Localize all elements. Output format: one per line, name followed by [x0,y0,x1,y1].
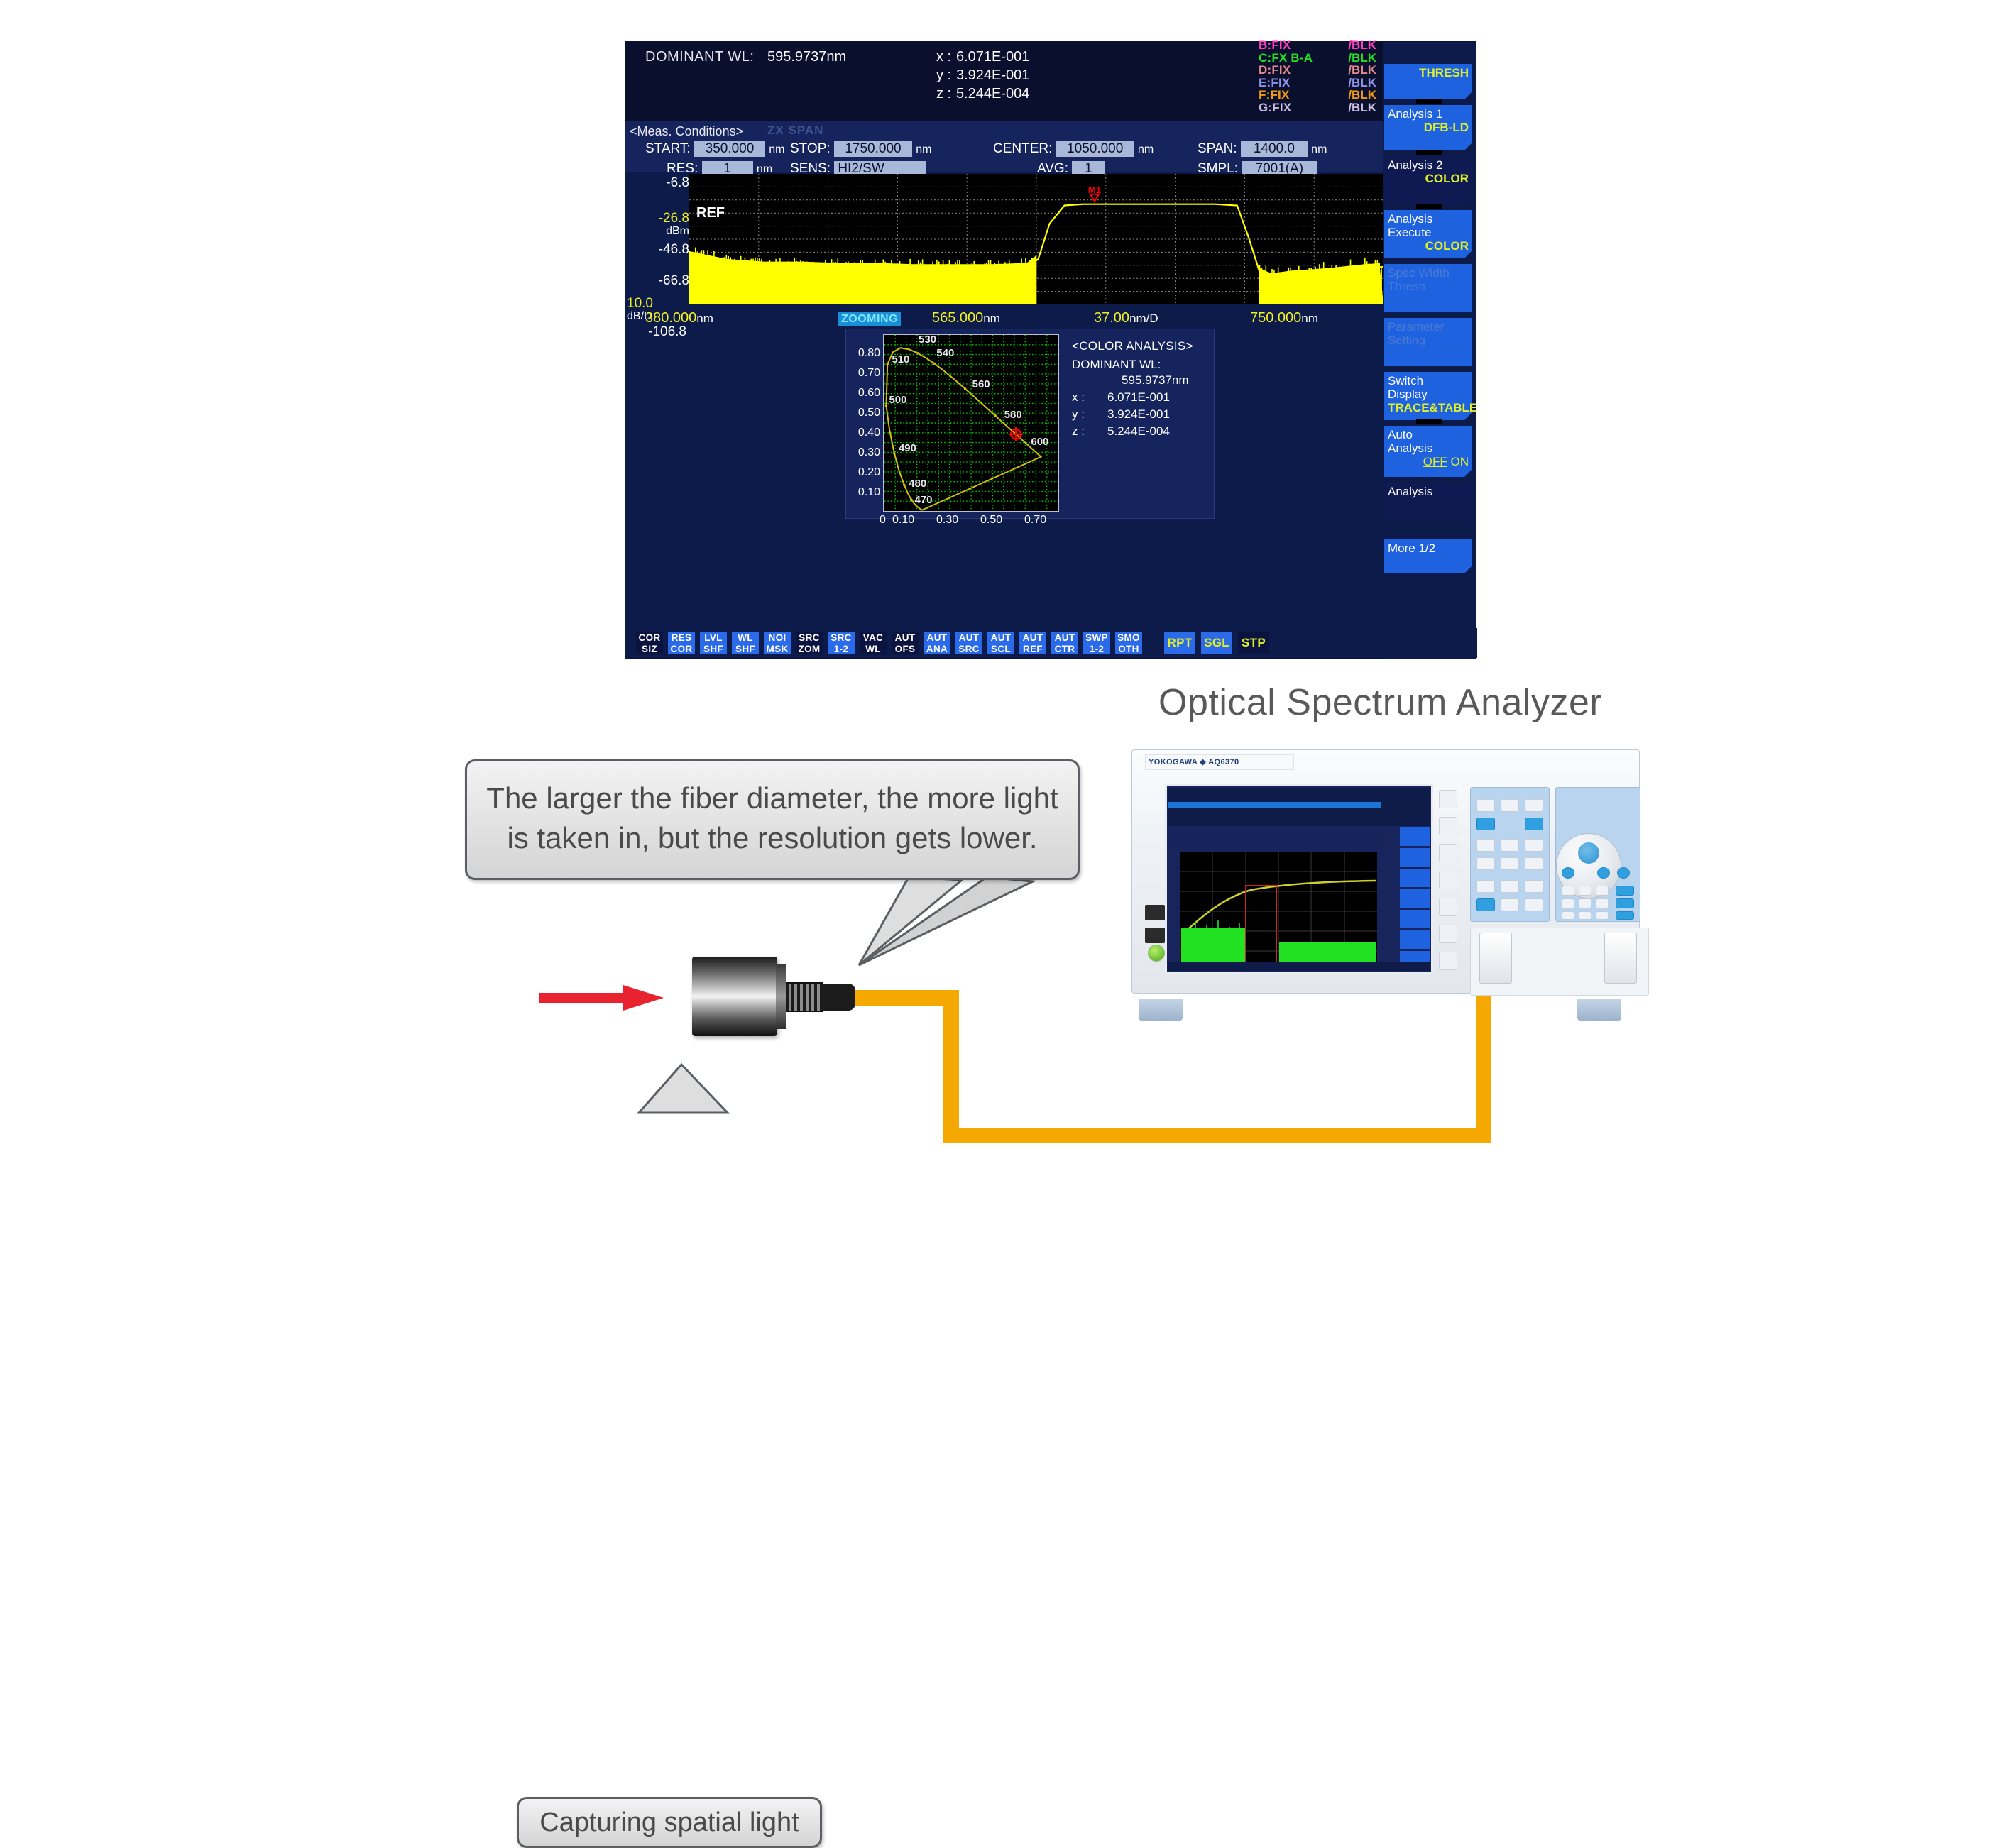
start-unit: nm [769,143,784,155]
softkey-label: Analysis 1 [1388,107,1469,121]
status-key-line1: AUT [991,632,1012,643]
cie-wavelength-label: 600 [1031,436,1048,448]
status-key-autofs[interactable]: AUTOFS [891,631,919,655]
trace-legend-mode: /BLK [1348,64,1376,77]
trace-legend-name: E:FIX [1259,77,1290,89]
brand-diamond-icon: ◆ [1200,758,1208,766]
mini-status-bar [1168,962,1430,971]
status-key-line1: COR [639,632,661,643]
y-tick-0: -6.8 [625,175,689,191]
osa-instrument-photo: YOKOGAWA ◆ AQ6370 [1123,739,1648,1021]
softkey-label: Analysis Execute [1388,212,1469,239]
instrument-chassis: YOKOGAWA ◆ AQ6370 [1131,749,1640,994]
cie-x-key: x : [1072,390,1090,405]
fiber-collimator-body [692,957,777,1036]
status-key-line2: CTR [1051,644,1078,655]
cie-y-tick: 0.40 [846,427,880,439]
cie-wavelength-label: 480 [909,478,926,490]
softkey-parameter-setting[interactable]: Parameter Setting [1383,317,1473,367]
cie-y-tick: 0.50 [846,407,880,419]
bezel-key-7[interactable] [1439,952,1457,970]
status-key-autsrc[interactable]: AUTSRC [955,631,983,655]
status-key-line1: SMO [1117,632,1140,643]
x-stop-value: 750.000 [1250,310,1301,326]
mini-softkeys [1400,827,1430,967]
key-peak-search[interactable] [1501,857,1519,870]
status-key-line2: ANA [924,644,950,655]
status-key-autctr[interactable]: AUTCTR [1051,631,1079,655]
softkey-value: DFB-LD [1388,121,1469,134]
fiber-connector-boot [821,984,855,1011]
dominant-wl-label: DOMINANT WL: [645,49,754,65]
cie-y-tick: 0.10 [846,486,880,499]
instrument-foot-right [1577,999,1621,1021]
scale-per-div-value: 10.0 [627,296,691,312]
numpad-unit-db[interactable] [1616,911,1634,920]
model-name: AQ6370 [1208,758,1239,766]
bezel-key-1[interactable] [1439,790,1457,808]
key-file[interactable] [1501,898,1519,911]
status-key-line1: AUT [959,632,980,643]
cie-y-key: y : [1072,407,1090,422]
status-key-autref[interactable]: AUTREF [1019,631,1047,655]
softkey-notch [1464,412,1472,420]
softkey-notch [1464,469,1472,477]
status-key-line2: SIZ [636,644,663,655]
cie-y-tick: 0.70 [846,367,880,380]
collimator-flange [776,964,786,1029]
instrument-brand-plate: YOKOGAWA ◆ AQ6370 [1145,754,1294,770]
status-key-line1: RES [672,632,692,643]
trace-legend-name: F:FIX [1259,89,1290,101]
trace-legend-row: E:FIX/BLK [1256,77,1383,89]
x-start-label: 380.000nm [645,310,713,326]
key-calib[interactable] [1476,880,1495,893]
spectrum-plot: M1 [689,174,1383,304]
softkey-notch [1464,143,1472,150]
key-trace[interactable] [1525,839,1543,852]
mini-title-bar [1168,802,1381,808]
status-key-line1: AUT [1055,632,1075,643]
status-key-rescor[interactable]: RESCOR [667,631,696,655]
page-title: Optical Spectrum Analyzer [1158,681,1602,724]
status-key-line2: SHF [700,644,727,655]
cie-x-tick: 0.30 [936,514,958,527]
softkey-divider [1416,419,1442,424]
cie-z-value: 5.244E-004 [1107,424,1170,438]
softkey-label: Analysis 2 [1388,158,1469,172]
x-value: 6.071E-001 [956,48,1063,66]
cie-y-row: y :3.924E-001 [1072,407,1170,422]
status-key-sgl[interactable]: SGL [1200,631,1233,655]
softkey-analysis[interactable]: Analysis [1383,482,1473,522]
trace-legend-name: D:FIX [1259,64,1291,77]
status-key-noimsk[interactable]: NOIMSK [763,631,791,655]
knob-up-button[interactable] [1617,867,1630,879]
softkey-notch [1464,566,1472,573]
display-bezel-softkeys[interactable] [1439,790,1463,1003]
x-center-label: 565.000nm [932,310,1000,326]
cie-x-tick: 0.50 [980,514,1002,527]
usb-port-a-icon[interactable] [1145,905,1165,920]
softkey-divider [1416,150,1442,155]
cie-wavelength-label: 490 [899,442,916,454]
color-analysis-title: <COLOR ANALYSIS> [1072,339,1193,353]
status-key-lvlshf[interactable]: LVLSHF [699,631,728,655]
softkey-value: THRESH [1388,66,1469,79]
cie-x-tick: 0.70 [1024,514,1046,527]
span-unit: nm [1311,143,1327,155]
mini-meas-panel [1168,829,1381,847]
knob-down-button[interactable] [1597,867,1610,879]
status-key-line1: NOI [769,632,787,643]
key-setup[interactable] [1476,839,1495,852]
trace-legend-mode: /BLK [1348,89,1376,101]
center-unit: nm [1138,143,1154,155]
bezel-key-3[interactable] [1439,844,1457,862]
softkey-panel[interactable]: THRESHAnalysis 1DFB-LDAnalysis 2COLORAna… [1383,42,1476,659]
numpad-5[interactable] [1579,898,1591,908]
trace-legend-name: B:FIX [1259,39,1291,52]
key-peak[interactable] [1525,818,1543,830]
chromaticity-values: x :6.071E-001 y :3.924E-001 z :5.244E-00… [936,48,1063,103]
softkey-value: COLOR [1388,172,1469,185]
x-start-unit: nm [696,312,713,325]
softkey-label: Parameter Setting [1388,320,1469,347]
trace-legend-mode: /BLK [1348,101,1376,114]
center-value[interactable]: 1050.000 [1056,141,1134,157]
status-key-autana[interactable]: AUTANA [923,631,951,655]
optical-port-bay[interactable] [1470,928,1649,996]
trace-legend-name: C:FX B-A [1259,52,1313,65]
status-key-line1: AUT [927,632,948,643]
collimator-threaded-adapter [786,982,823,1012]
softkey-switch-display[interactable]: Switch DisplayTRACE&TABLE [1383,371,1473,421]
input-light-arrow-icon [539,985,664,1011]
callout-bubble-fiber-diameter: The larger the fiber diameter, the more … [465,759,1080,880]
numpad-enter[interactable] [1616,886,1634,896]
calibration-output-port[interactable] [1604,933,1637,984]
cie-wavelength-label: 540 [936,347,954,359]
bezel-key-5[interactable] [1439,898,1457,916]
cie-x-tick: 0 [880,514,886,527]
svg-text:M1: M1 [1088,185,1101,195]
status-key-line1: RPT [1168,636,1193,649]
x-perdiv-value: 37.00 [1094,310,1129,326]
status-key-line1: SRC [799,632,819,643]
cie-y-tick: 0.20 [846,466,880,479]
entry-keypad-panel[interactable] [1555,787,1640,922]
meas-conditions-title: <Meas. Conditions> [630,124,743,139]
status-key-line2: SCL [987,644,1014,655]
numpad-8[interactable] [1579,886,1591,896]
x-stop-unit: nm [1301,312,1318,325]
start-label: START: [645,141,691,156]
status-key-line1: SGL [1204,636,1229,649]
status-key-wlshf[interactable]: WLSHF [731,631,760,655]
status-key-line1: STP [1242,636,1266,649]
status-key-line1: WL [738,632,753,643]
cie-wavelength-label: 510 [892,353,909,365]
softkey-value: COLOR [1388,239,1469,253]
softkey-value: TRACE&TABLE [1388,401,1469,414]
dominant-wl-value: 595.9737nm [767,49,846,65]
trace-legend: B:FIX/BLKC:FX B-A/BLKD:FIX/BLKE:FIX/BLKF… [1256,39,1383,114]
softkey-toggle-value: OFF ON [1388,455,1469,468]
x-key: x : [936,48,956,66]
key-level[interactable] [1525,799,1543,812]
usb-port-b-icon[interactable] [1145,928,1165,943]
trace-legend-row: G:FIX/BLK [1256,101,1383,114]
x-start-value: 380.000 [645,310,696,326]
trace-legend-mode: /BLK [1348,39,1376,52]
trace-legend-name: G:FIX [1259,101,1291,114]
start-value[interactable]: 350.000 [694,141,765,157]
y-tick-2: -46.8 [625,242,689,258]
center-label: CENTER: [993,141,1052,156]
cie-y-tick: 0.80 [846,347,880,360]
x-stop-label: 750.000nm [1250,310,1318,326]
softkey-analysis-execute[interactable]: Analysis ExecuteCOLOR [1383,209,1473,259]
x-perdiv-label: 37.00nm/D [1094,310,1158,326]
y-key: y : [936,66,956,84]
ref-marker-label: REF [696,205,725,221]
status-key-swp1-2[interactable]: SWP1-2 [1083,631,1111,655]
span-label: SPAN: [1198,141,1237,156]
cie-x-row: x :6.071E-001 [1072,390,1170,405]
status-key-line2: 1-2 [1083,644,1110,655]
cie-wavelength-label: 470 [914,494,932,506]
softkey-auto-analysis[interactable]: Auto AnalysisOFF ON [1383,425,1473,478]
field-stop[interactable]: STOP: 1750.000 nm [790,141,931,157]
key-sweep[interactable] [1476,818,1495,830]
x-center-unit: nm [983,312,1000,325]
status-key-line2: OTH [1115,644,1142,655]
knob-enter-button[interactable] [1562,867,1574,879]
trace-legend-row: B:FIX/BLK [1256,39,1383,52]
status-key-line1: SRC [831,632,851,643]
numpad-unit-nm[interactable] [1616,898,1634,908]
callout-line-2: is taken in, but the resolution gets low… [467,818,1078,858]
status-key-corsiz[interactable]: CORSIZ [635,631,664,655]
softkey-label: Spec Width Thresh [1388,266,1469,293]
cie-z-key: z : [1072,424,1090,439]
mini-spectrum-plot [1180,852,1377,971]
callout-bubble-capturing-light: Capturing spatial light [517,1797,822,1848]
status-key-line2: SHF [732,644,759,655]
status-key-smooth[interactable]: SMOOTH [1114,631,1143,655]
trace-legend-mode: /BLK [1348,52,1376,65]
osa-screen-capture: DOMINANT WL: 595.9737nm x :6.071E-001 y … [625,41,1476,659]
power-button[interactable] [1148,945,1165,962]
cie-y-tick: 0.60 [846,387,880,400]
ref-level-value: -26.8 [625,211,689,226]
key-center[interactable] [1476,799,1495,812]
status-key-line2: 1-2 [828,644,855,655]
cie-dominant-wl-value: 595.9737nm [1122,373,1189,387]
z-value: 5.244E-004 [956,84,1063,103]
softkey-label: More 1/2 [1388,541,1469,555]
key-system[interactable] [1525,880,1543,893]
key-print[interactable] [1525,898,1543,911]
softkey-label: Switch Display [1388,374,1469,401]
status-key-line2: OFS [892,644,919,655]
cie-wavelength-label: 560 [972,378,990,390]
key-span[interactable] [1501,799,1519,812]
key-auto[interactable] [1525,857,1543,870]
numpad-6[interactable] [1596,898,1609,908]
cie-wavelength-label: 580 [1004,409,1022,421]
softkey-analysis-2[interactable]: Analysis 2COLOR [1383,155,1473,205]
stop-value[interactable]: 1750.000 [834,141,912,157]
diagram-section: Optical Spectrum Analyzer The larger the… [0,681,2011,1233]
field-span[interactable]: SPAN: 1400.0 nm [1198,141,1327,157]
key-display[interactable] [1501,839,1519,852]
meas-row-1: START: 350.000 nm STOP: 1750.000 nm CENT… [625,141,1383,161]
status-key-line2: REF [1019,644,1046,655]
status-key-line1: LVL [704,632,722,643]
numpad-7[interactable] [1562,886,1574,896]
osa-status-bar: CORSIZRESCORLVLSHFWLSHFNOIMSKSRCZOMSRC1-… [625,628,1477,658]
key-marker[interactable] [1476,857,1495,870]
level-unit-label: dBm [625,225,689,238]
trace-legend-row: F:FIX/BLK [1256,89,1383,101]
status-key-src1-2[interactable]: SRC1-2 [827,631,855,655]
numpad-1[interactable] [1562,911,1574,920]
softkey-label: Analysis [1388,485,1469,498]
y-value: 3.924E-001 [956,66,1063,84]
optical-input-port[interactable] [1479,933,1512,984]
instrument-display [1165,784,1433,974]
x-center-value: 565.000 [932,310,983,326]
softkey-thresh[interactable]: THRESH [1383,63,1473,100]
softkey-notch [1464,251,1472,258]
zooming-badge: ZOOMING [838,312,901,326]
osa-header-panel: DOMINANT WL: 595.9737nm x :6.071E-001 y … [625,42,1383,121]
stop-label: STOP: [790,141,831,156]
callout-line-1: The larger the fiber diameter, the more … [467,779,1078,818]
trace-legend-row: D:FIX/BLK [1256,64,1383,77]
status-key-line2: COR [668,644,695,655]
trace-legend-row: C:FX B-A/BLK [1256,52,1383,65]
status-key-srczom[interactable]: SRCZOM [795,631,823,655]
numpad-2[interactable] [1579,911,1591,920]
status-key-line2: SRC [955,644,982,655]
status-key-line2: MSK [764,644,791,655]
zoom-span-badge: ZX SPAN [767,123,823,138]
numpad-9[interactable] [1596,886,1609,896]
z-key: z : [936,84,956,103]
trace-legend-mode: /BLK [1348,77,1376,89]
cie-wavelength-label: 530 [919,334,936,346]
status-key-stp[interactable]: STP [1237,631,1270,655]
x-axis-labels: 380.000nm ZOOMING 565.000nm 37.00nm/D 75… [625,310,1383,329]
softkey-toggle-off[interactable]: OFF [1423,455,1447,468]
cie-x-tick: 0.10 [892,514,914,527]
status-key-line1: VAC [863,632,883,643]
softkey-toggle-on[interactable]: ON [1451,455,1469,468]
numpad-4[interactable] [1562,898,1574,908]
brand-name: YOKOGAWA [1149,758,1198,766]
softkey-notch [1464,197,1472,204]
key-advance[interactable] [1501,880,1519,893]
x-perdiv-unit: nm/D [1129,312,1158,325]
status-key-line1: SWP [1085,632,1108,643]
cie-y-tick: 0.30 [846,446,880,459]
cie-y-value: 3.924E-001 [1107,407,1170,421]
softkey-spec-width-thresh[interactable]: Spec Width Thresh [1383,263,1473,313]
field-start[interactable]: START: 350.000 nm [645,141,785,157]
cie-z-row: z :5.244E-004 [1072,424,1170,439]
bezel-key-4[interactable] [1439,871,1457,889]
function-keypad-panel[interactable] [1470,787,1550,922]
status-key-autscl[interactable]: AUTSCL [987,631,1015,655]
status-key-line1: AUT [1023,632,1043,643]
instrument-foot-left [1139,999,1183,1021]
status-key-line2: ZOM [796,644,823,655]
status-key-line2: WL [860,644,887,655]
softkey-analysis-1[interactable]: Analysis 1DFB-LD [1383,104,1473,151]
bezel-key-6[interactable] [1439,925,1457,943]
cie-x-value: 6.071E-001 [1107,390,1170,404]
cie-analysis-panel: 0.800.700.600.500.400.300.200.10 00.100.… [845,329,1215,519]
softkey-more-1-2[interactable]: More 1/2 [1383,539,1473,574]
softkey-divider [1416,99,1442,104]
bezel-key-2[interactable] [1439,817,1457,835]
meas-conditions-panel: <Meas. Conditions> ZX SPAN START: 350.00… [625,121,1383,172]
numpad-3[interactable] [1596,911,1609,920]
softkey-divider [1416,204,1442,209]
field-center[interactable]: CENTER: 1050.000 nm [993,141,1154,157]
y-tick-3: -66.8 [625,273,689,289]
status-key-vacwl[interactable]: VACWL [859,631,887,655]
softkey-label: Auto Analysis [1388,428,1469,455]
stop-unit: nm [916,143,931,155]
cie-wavelength-label: 500 [889,394,906,406]
span-value[interactable]: 1400.0 [1241,141,1308,157]
status-key-rpt[interactable]: RPT [1163,631,1196,655]
status-key-line1: AUT [895,632,916,643]
cie-dominant-wl-label: DOMINANT WL: [1072,358,1161,372]
softkey-notch [1464,92,1472,99]
key-analysis[interactable] [1476,898,1495,911]
